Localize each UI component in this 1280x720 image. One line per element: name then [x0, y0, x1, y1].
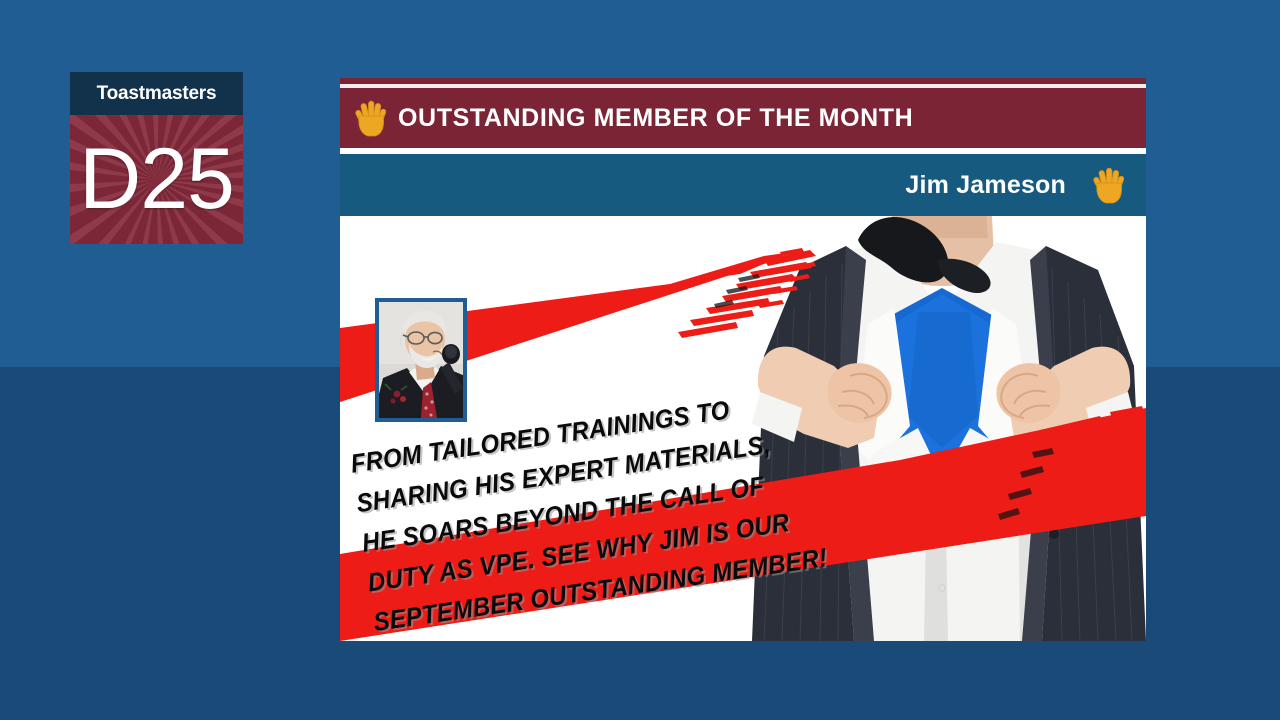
logo-district-label: D25 [70, 115, 243, 244]
portrait-photo [379, 302, 463, 418]
hero-photo [742, 216, 1146, 641]
logo-org-label: Toastmasters [70, 72, 243, 115]
raised-hand-icon [1092, 166, 1126, 204]
member-portrait [375, 298, 467, 422]
slide-canvas: Toastmasters [0, 0, 1280, 720]
card-name-bar: Jim Jameson [340, 154, 1146, 216]
superhero-reveal-illustration [742, 216, 1146, 641]
header-title-row: OUTSTANDING MEMBER OF THE MONTH [340, 88, 1146, 148]
member-name: Jim Jameson [905, 171, 1066, 200]
outstanding-member-card: OUTSTANDING MEMBER OF THE MONTH Jim Jame… [340, 78, 1146, 641]
card-header-bar: OUTSTANDING MEMBER OF THE MONTH [340, 78, 1146, 148]
card-body: From Tailored Trainings to Sharing his e… [340, 216, 1146, 641]
card-header-title: OUTSTANDING MEMBER OF THE MONTH [398, 104, 913, 133]
raised-hand-icon [354, 99, 388, 137]
logo-header-band: Toastmasters [70, 72, 243, 115]
toastmasters-d25-logo[interactable]: Toastmasters [70, 72, 243, 244]
